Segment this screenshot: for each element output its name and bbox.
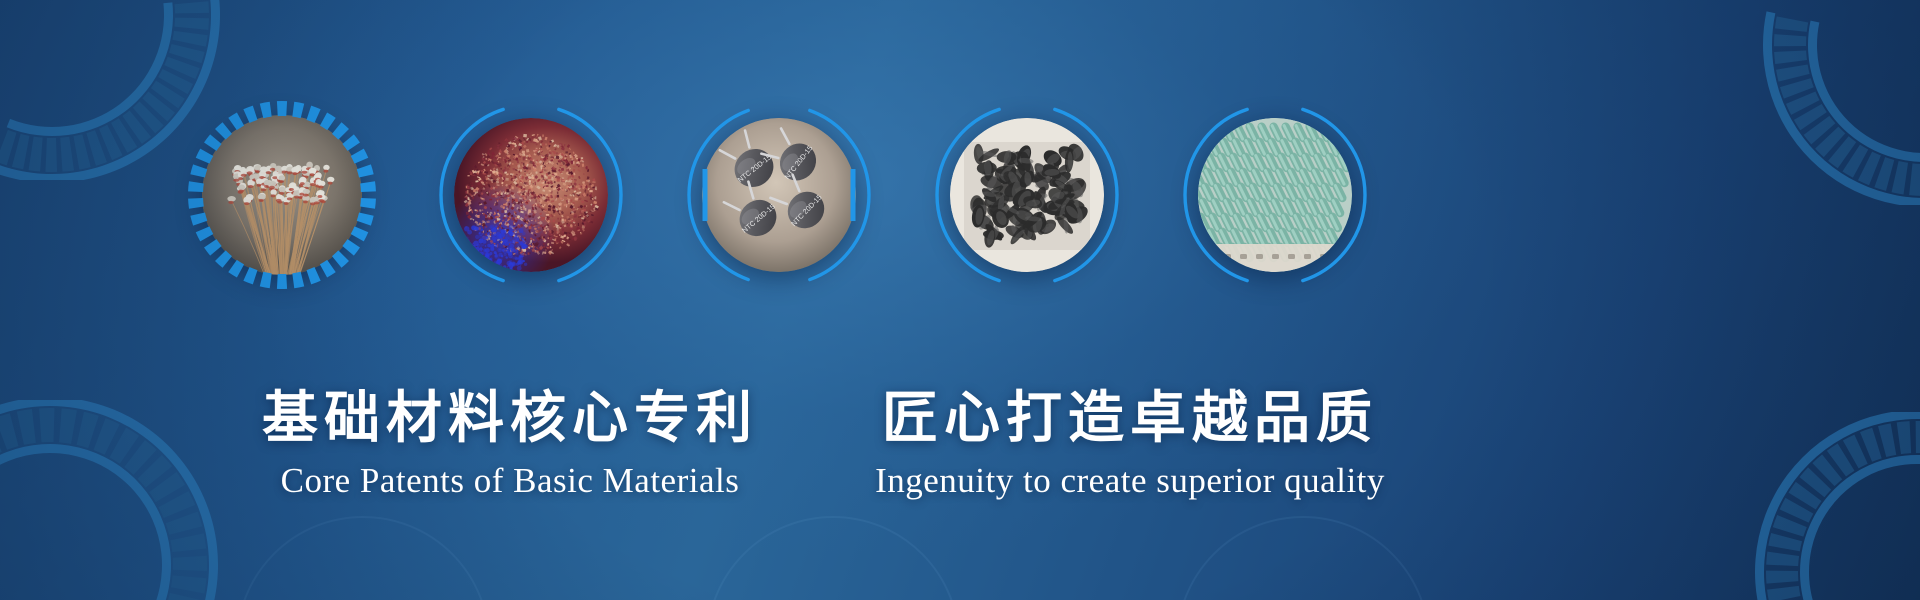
headline-english-superior-quality: Ingenuity to create superior quality [800, 461, 1460, 501]
headline-basic-materials: 基础材料核心专利 Core Patents of Basic Materials [230, 390, 790, 501]
hero-banner: NTC 20D-15NTC 20D-15NTC 20D-15NTC 20D-15 [0, 0, 1920, 600]
headline-superior-quality: 匠心打造卓越品质 Ingenuity to create superior qu… [800, 390, 1460, 501]
headline-english-basic-materials: Core Patents of Basic Materials [230, 461, 790, 501]
background-vignette [0, 0, 1920, 600]
headline-chinese-basic-materials: 基础材料核心专利 [230, 390, 790, 449]
headline-chinese-superior-quality: 匠心打造卓越品质 [800, 390, 1460, 449]
